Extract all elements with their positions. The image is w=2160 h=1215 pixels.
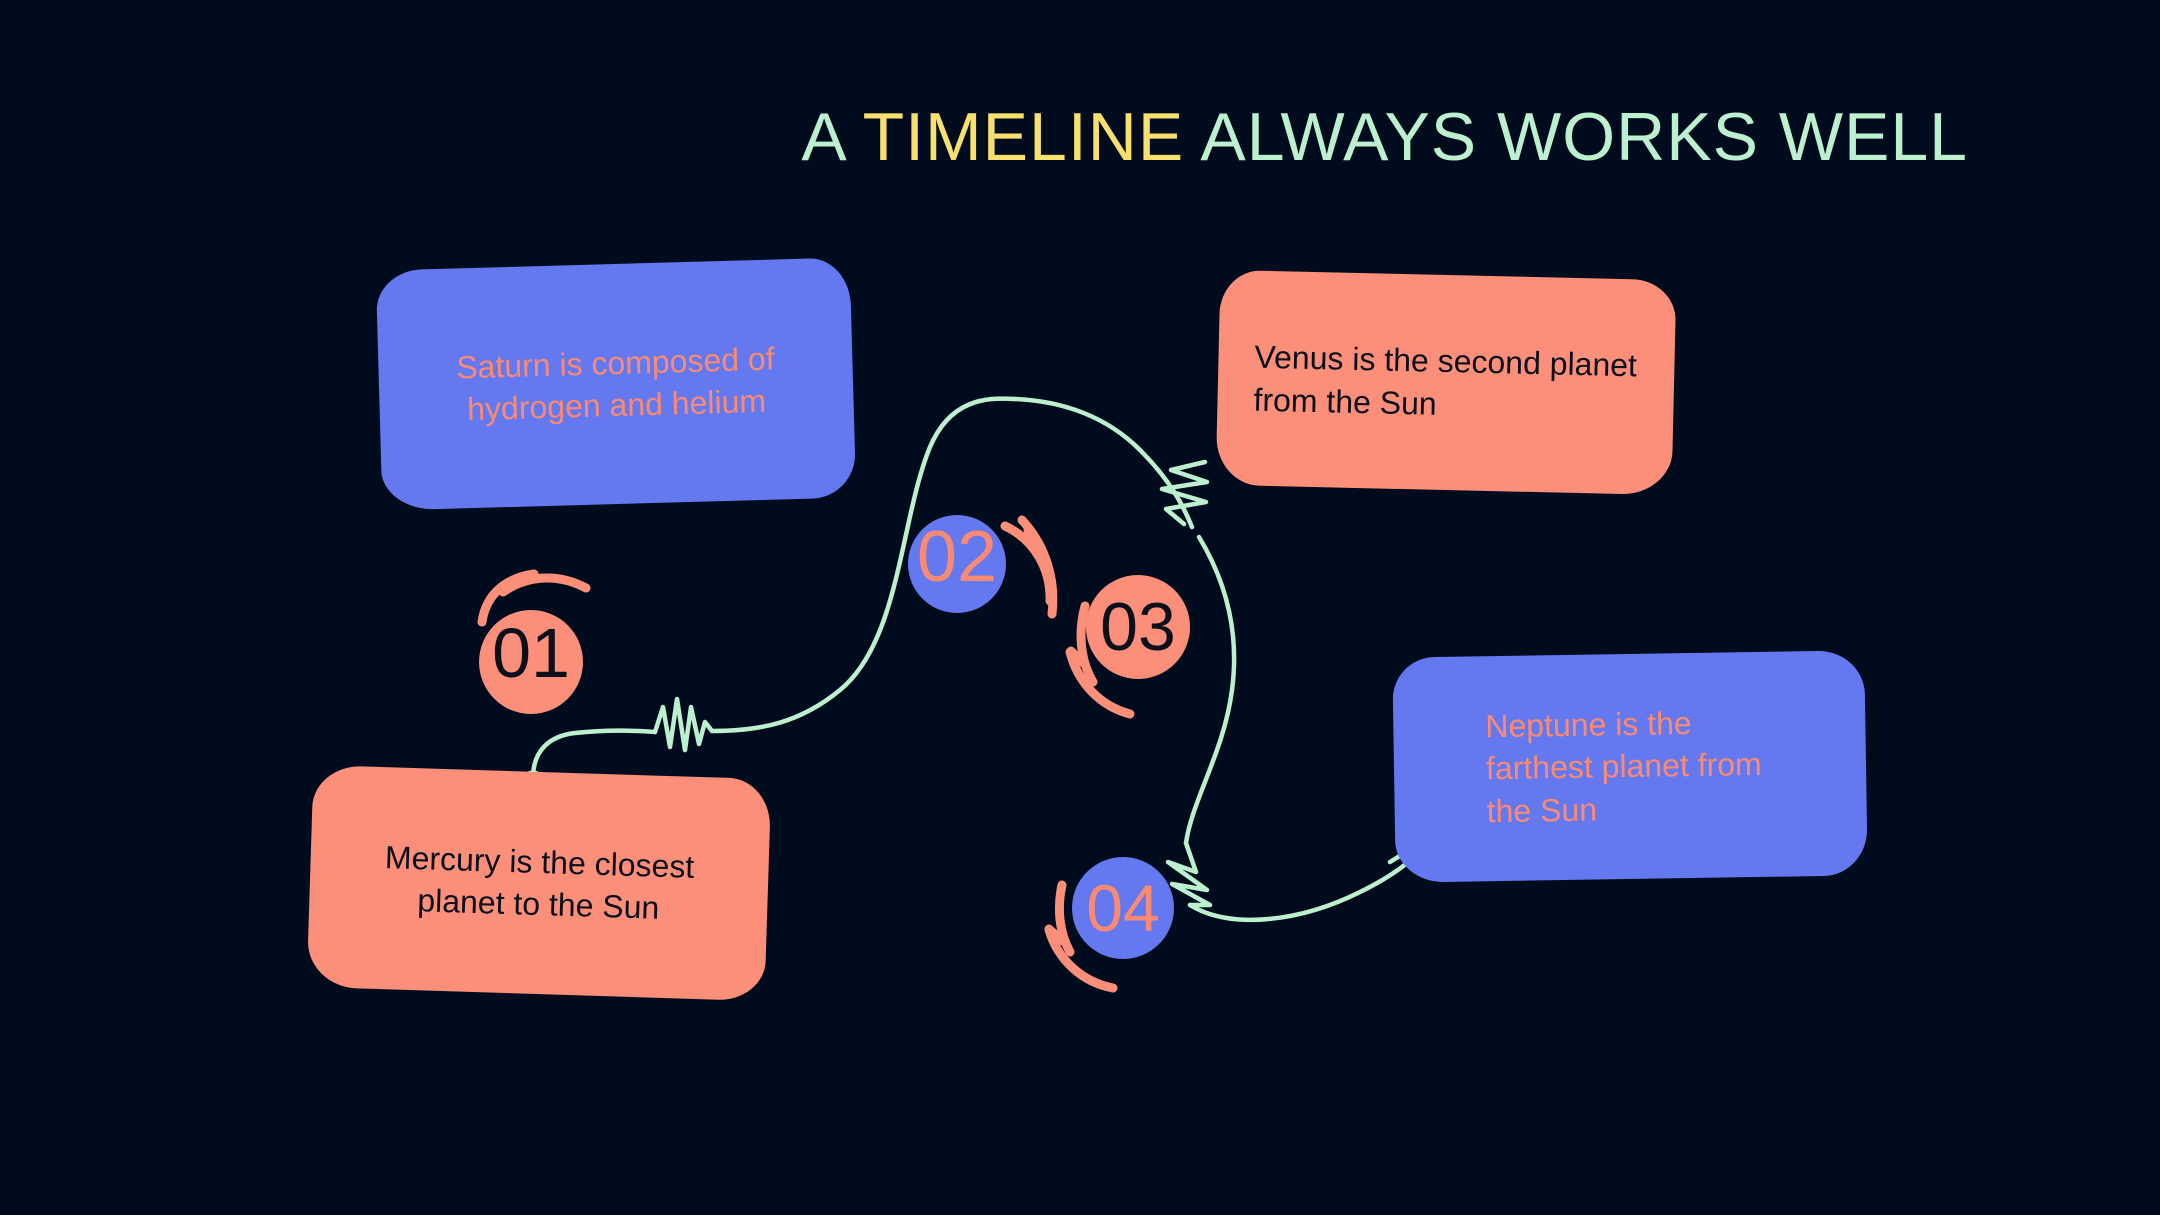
card-neptune[interactable]: Neptune is the farthest planet from the … [1392,650,1867,882]
decor-arc-03-c [1071,651,1083,663]
step-marker-03[interactable]: 03 [1086,575,1190,679]
decor-arc-02-c [1028,530,1037,546]
connector-segment-4 [1186,537,1234,843]
title-prefix: A [801,99,862,175]
title-highlight: TIMELINE [863,99,1185,175]
connector-squiggle-1 [655,699,712,750]
card-saturn-text: Saturn is composed of hydrogen and heliu… [412,336,820,432]
card-venus[interactable]: Venus is the second planet from the Sun [1216,270,1677,495]
decor-arc-01-c [509,578,527,586]
card-saturn[interactable]: Saturn is composed of hydrogen and heliu… [376,257,857,510]
decorative-arc-layer [0,0,2160,1215]
card-mercury-text: Mercury is the closest planet to the Sun [343,835,735,932]
step-marker-02[interactable]: 02 [908,515,1006,613]
slide-canvas: A TIMELINE ALWAYS WORKS WELL [0,0,2160,1215]
title-suffix: ALWAYS WORKS WELL [1184,99,1968,175]
connector-segment-1 [533,731,655,778]
step-04-label: 04 [1072,875,1174,941]
timeline-connector-layer [0,0,2160,1215]
connector-segment-5 [1190,847,1424,920]
step-03-label: 03 [1086,593,1190,661]
card-mercury[interactable]: Mercury is the closest planet to the Sun [307,765,772,1001]
connector-squiggle-3 [1168,843,1210,905]
card-neptune-text: Neptune is the farthest planet from the … [1485,701,1775,832]
decor-arc-04-a [1059,885,1070,952]
step-marker-04[interactable]: 04 [1072,857,1174,959]
decor-arc-04-c [1049,929,1062,941]
card-venus-text: Venus is the second planet from the Sun [1253,336,1639,429]
decor-arc-02-a [1005,526,1050,601]
connector-squiggle-2 [1162,462,1207,524]
step-marker-01[interactable]: 01 [479,610,583,714]
step-02-label: 02 [908,521,1006,593]
decor-arc-02-b [1022,520,1053,614]
step-01-label: 01 [479,618,583,688]
decor-arc-01-b [503,578,586,592]
page-title: A TIMELINE ALWAYS WORKS WELL [0,98,1968,176]
connector-segment-3 [1015,399,1192,527]
